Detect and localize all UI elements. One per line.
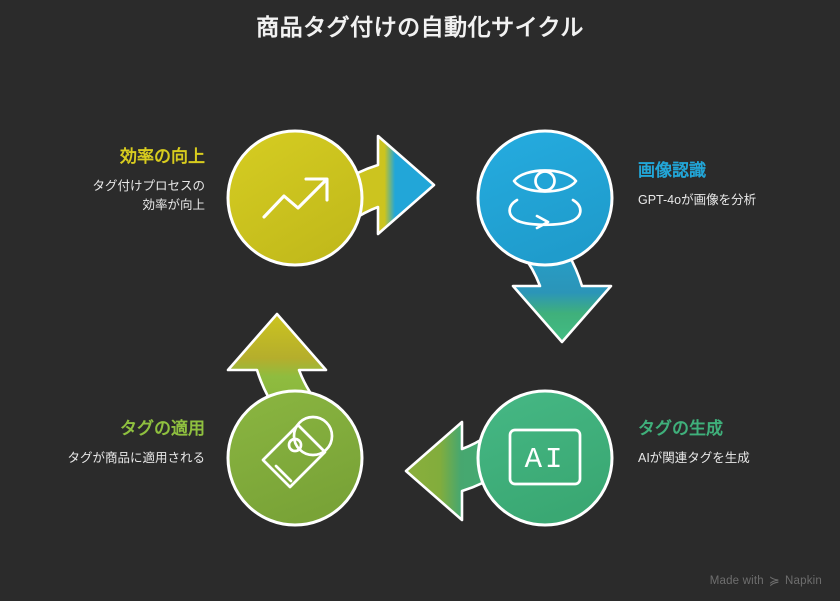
node-title-recognition: 画像認識 [638,160,828,182]
node-desc-application: タグが商品に適用される [12,449,205,468]
node-desc-recognition: GPT-4oが画像を分析 [638,191,828,210]
cycle-node-application[interactable] [228,391,362,525]
node-desc-efficiency: タグ付けプロセスの 効率が向上 [20,177,205,216]
napkin-logo-icon: ≽ [769,574,780,587]
node-title-application: タグの適用 [12,418,205,440]
napkin-watermark[interactable]: Made with ≽ Napkin [710,574,822,587]
node-label-application: タグの適用 タグが商品に適用される [12,418,205,468]
node-title-efficiency: 効率の向上 [20,146,205,168]
page-title: 商品タグ付けの自動化サイクル [0,13,840,42]
cycle-diagram: AI [180,88,660,568]
node-title-generation: タグの生成 [638,418,828,440]
node-label-generation: タグの生成 AIが関連タグを生成 [638,418,828,468]
diagram-canvas: 商品タグ付けの自動化サイクル [0,0,840,601]
cycle-node-recognition[interactable] [478,131,612,265]
ai-chip-label: AI [525,443,566,476]
node-label-efficiency: 効率の向上 タグ付けプロセスの 効率が向上 [20,146,205,216]
watermark-brand: Napkin [785,575,822,587]
cycle-node-efficiency[interactable] [228,131,362,265]
watermark-prefix: Made with [710,575,764,587]
node-label-recognition: 画像認識 GPT-4oが画像を分析 [638,160,828,210]
node-desc-generation: AIが関連タグを生成 [638,449,828,468]
cycle-node-generation[interactable]: AI [478,391,612,525]
